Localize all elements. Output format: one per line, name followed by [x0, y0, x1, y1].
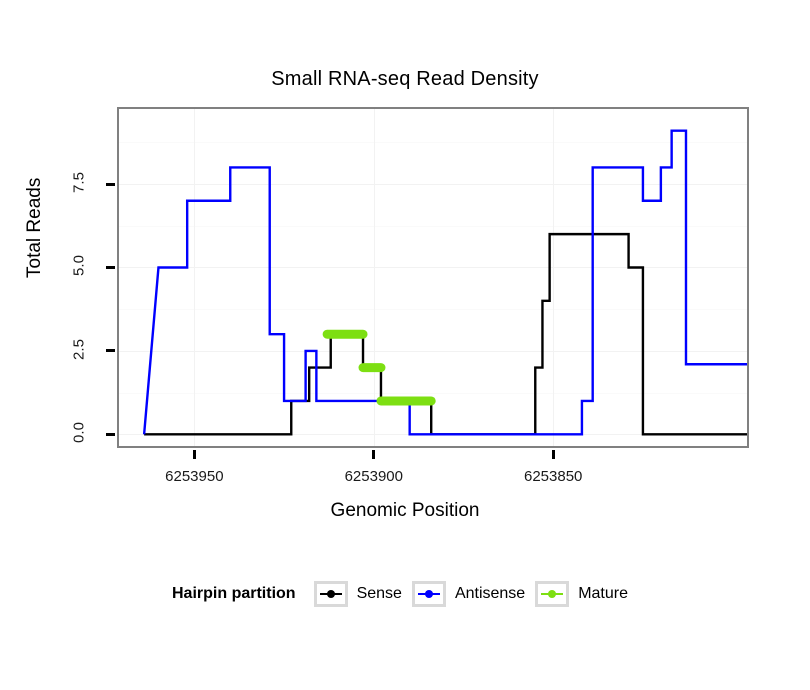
x-tick-mark [552, 450, 555, 459]
y-tick-label: 5.0 [71, 246, 88, 286]
y-tick-label: 7.5 [71, 163, 88, 203]
x-tick-label: 6253950 [129, 468, 259, 485]
legend-label: Mature [578, 585, 628, 603]
legend-dot-icon [425, 590, 433, 598]
plot-panel [117, 107, 749, 448]
y-tick-label: 0.0 [71, 413, 88, 453]
legend-item-sense[interactable]: Sense [314, 581, 402, 607]
legend-key-sense [314, 581, 348, 607]
x-tick-mark [193, 450, 196, 459]
chart-title: Small RNA-seq Read Density [0, 68, 810, 91]
x-tick-label: 6253900 [309, 468, 439, 485]
y-tick-mark [106, 183, 115, 186]
legend-item-antisense[interactable]: Antisense [412, 581, 525, 607]
legend-label: Antisense [455, 585, 525, 603]
y-tick-mark [106, 266, 115, 269]
legend: Hairpin partition SenseAntisenseMature [0, 581, 810, 607]
y-tick-label: 2.5 [71, 329, 88, 369]
series-line-sense [144, 234, 747, 434]
x-tick-mark [372, 450, 375, 459]
plot-series-svg [119, 109, 747, 446]
chart-root: Small RNA-seq Read Density Total Reads G… [0, 0, 810, 690]
legend-items: SenseAntisenseMature [314, 581, 638, 607]
y-tick-mark [106, 433, 115, 436]
y-tick-mark [106, 349, 115, 352]
legend-key-mature [535, 581, 569, 607]
legend-label: Sense [357, 585, 402, 603]
legend-dot-icon [548, 590, 556, 598]
plot-area [119, 109, 747, 446]
legend-item-mature[interactable]: Mature [535, 581, 628, 607]
legend-dot-icon [327, 590, 335, 598]
legend-key-antisense [412, 581, 446, 607]
x-axis-title: Genomic Position [0, 500, 810, 522]
legend-title: Hairpin partition [172, 585, 296, 603]
y-axis-title: Total Reads [24, 178, 46, 278]
series-line-antisense [144, 131, 747, 435]
x-tick-label: 6253850 [488, 468, 618, 485]
